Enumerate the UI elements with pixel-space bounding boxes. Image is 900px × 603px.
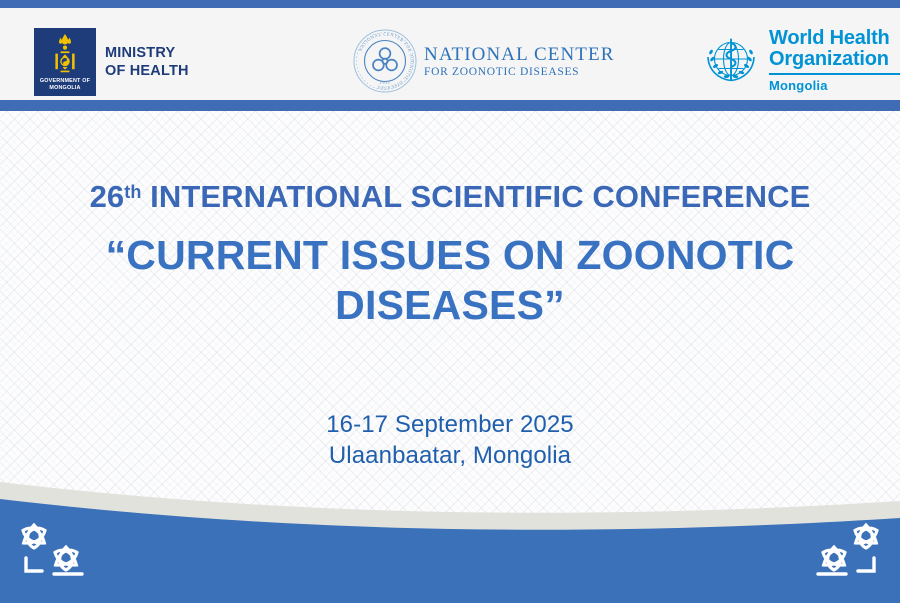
ministry-of-health-name: MINISTRY OF HEALTH [105,44,189,80]
crest-caption-line1: GOVERNMENT OF [34,78,96,85]
headline-block: 26th INTERNATIONAL SCIENTIFIC CONFERENCE… [0,173,900,330]
top-accent-bar [0,0,900,8]
svg-text:1931: 1931 [379,80,390,85]
national-center-name: NATIONAL CENTER FOR ZOONOTIC DISEASES [424,44,614,79]
conference-label-spacer [141,179,150,214]
ministry-of-health-logo: GOVERNMENT OF MONGOLIA MINISTRY OF HEALT… [34,28,189,96]
event-date: 16-17 September 2025 [0,409,900,440]
slide-body: 26th INTERNATIONAL SCIENTIFIC CONFERENCE… [0,111,900,603]
conference-label: INTERNATIONAL SCIENTIFIC CONFERENCE [150,179,810,214]
logo-band: GOVERNMENT OF MONGOLIA MINISTRY OF HEALT… [0,8,900,100]
crest-caption-line2: MONGOLIA [34,85,96,92]
crest-caption: GOVERNMENT OF MONGOLIA [34,78,96,92]
who-name-line1: World Health [769,28,900,49]
who-wordmark: World Health Organization Mongolia [769,28,900,93]
conference-number-suffix: th [124,182,141,202]
nczd-name-line1: NATIONAL CENTER [424,44,614,65]
soyombo-icon [45,33,85,79]
who-divider-rule [769,73,900,75]
conference-title-line2: DISEASES” [0,280,900,330]
conference-title-line1: “CURRENT ISSUES ON ZOONOTIC [0,230,900,280]
nczd-seal-icon: NATIONAL CENTER FOR ZOONOTIC DISEASES 19… [352,28,418,94]
who-emblem-icon [700,30,762,92]
mongolia-government-crest: GOVERNMENT OF MONGOLIA [34,28,96,96]
conference-number: 26 [90,179,125,214]
ministry-name-line1: MINISTRY [105,44,189,62]
event-details: 16-17 September 2025 Ulaanbaatar, Mongol… [0,409,900,471]
who-name-line2: Organization [769,49,900,70]
who-logo: World Health Organization Mongolia [700,28,900,93]
national-center-logo: NATIONAL CENTER FOR ZOONOTIC DISEASES 19… [352,28,614,94]
conference-subtitle: 26th INTERNATIONAL SCIENTIFIC CONFERENCE [0,173,900,216]
event-location: Ulaanbaatar, Mongolia [0,440,900,471]
who-country-label: Mongolia [769,78,900,93]
conference-title-slide: GOVERNMENT OF MONGOLIA MINISTRY OF HEALT… [0,0,900,603]
header-divider-bar [0,100,900,111]
ministry-name-line2: OF HEALTH [105,62,189,80]
nczd-name-line2: FOR ZOONOTIC DISEASES [424,65,614,79]
